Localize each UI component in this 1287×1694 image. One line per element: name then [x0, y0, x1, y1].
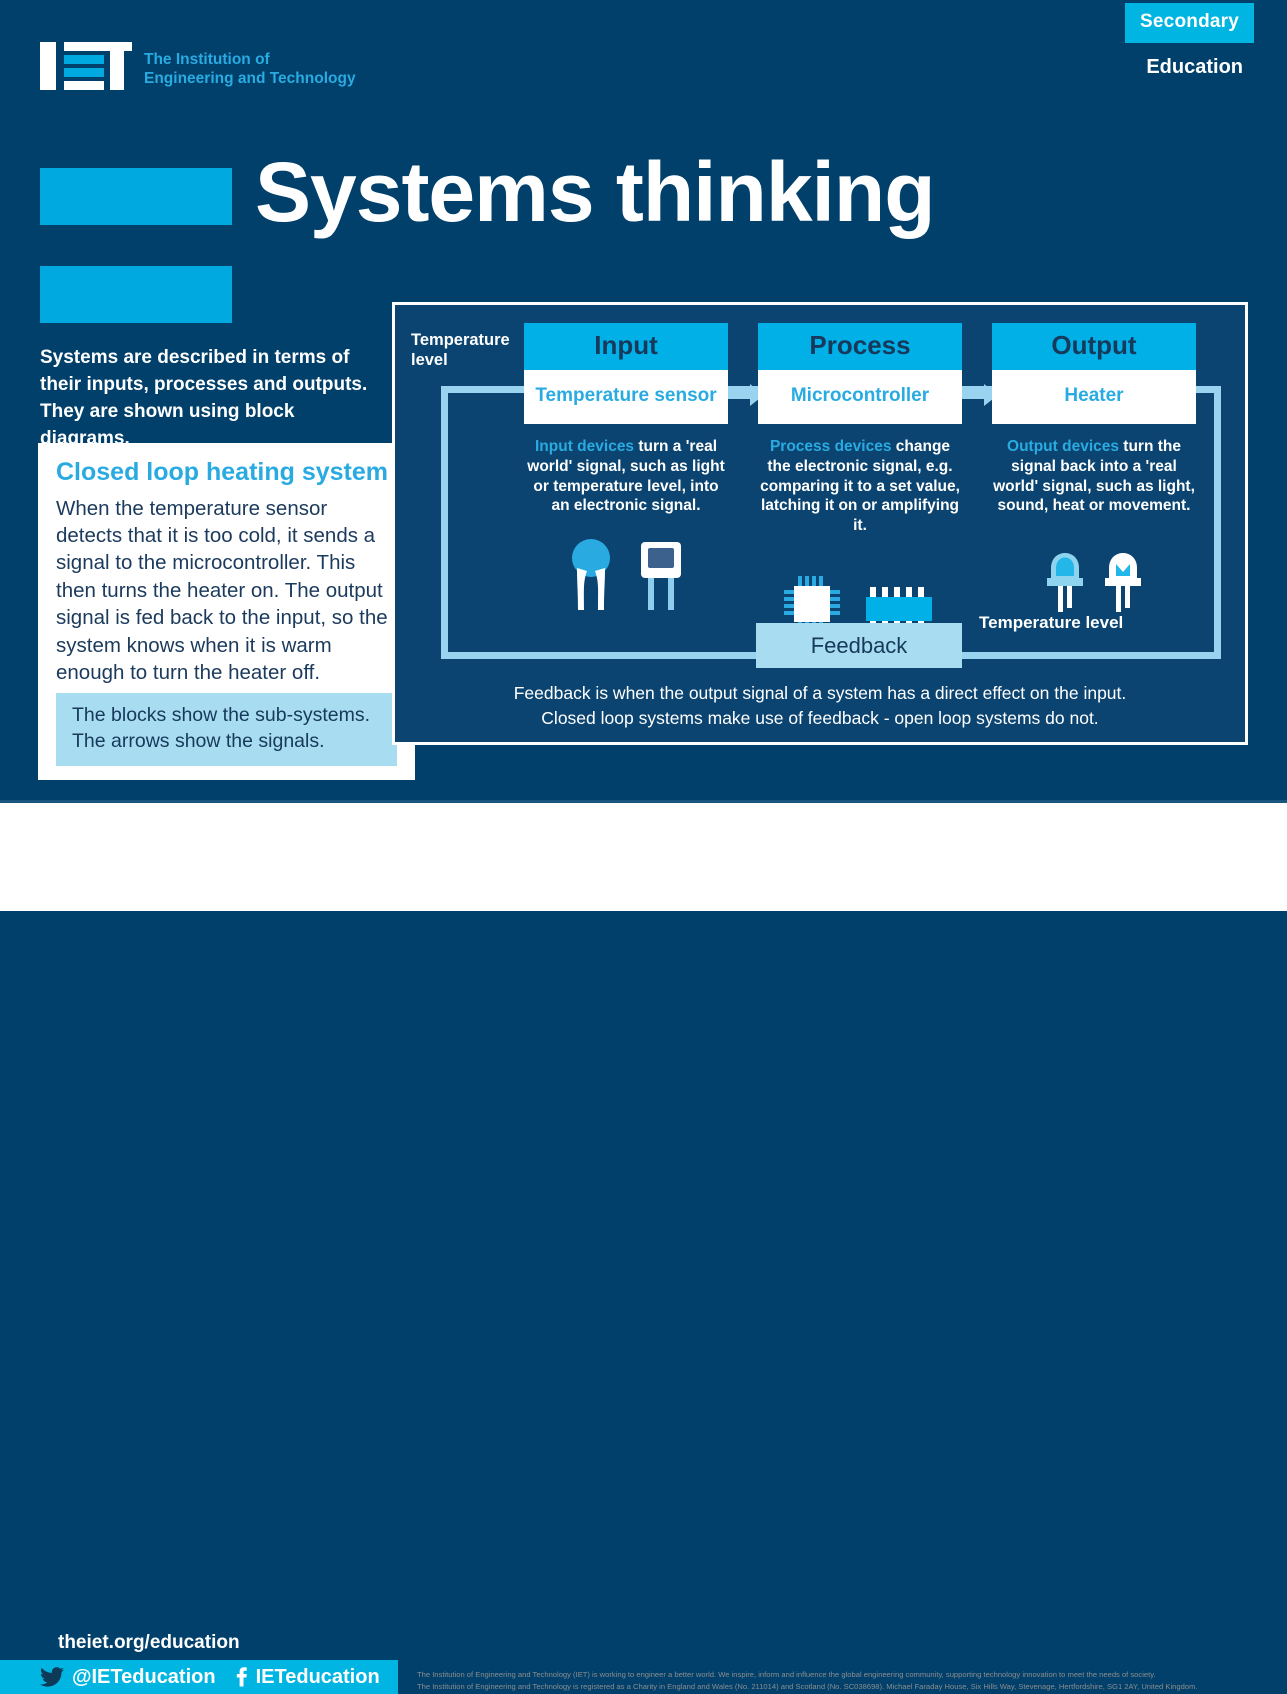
footer: theiet.org/education @IETeducation IETed… — [0, 803, 1287, 911]
block-input-head: Input — [524, 323, 728, 370]
decorative-rect-top — [40, 168, 232, 225]
decorative-rect-bottom — [40, 266, 232, 323]
intro-text: Systems are described in terms of their … — [40, 345, 385, 453]
block-input: Input Temperature sensor Input devices t… — [524, 323, 728, 614]
feedback-box: Feedback — [756, 623, 962, 668]
iet-logo-mark — [40, 42, 132, 90]
input-signal-label: Temperature level — [411, 331, 521, 371]
legal-line1: The Institution of Engineering and Techn… — [417, 1669, 1257, 1681]
education-label: Education — [1146, 56, 1243, 79]
footer-social-bar: @IETeducation IETeducation — [0, 1660, 398, 1694]
iet-logo: The Institution of Engineering and Techn… — [40, 42, 356, 90]
block-output-body: Heater — [992, 370, 1196, 424]
block-output-icons — [992, 516, 1196, 614]
twitter-handle[interactable]: @IETeducation — [72, 1666, 216, 1689]
block-output-desc-lead: Output devices — [1007, 438, 1119, 455]
block-process: Process Microcontroller Process devices … — [758, 323, 962, 634]
block-output: Output Heater Output devices turn the si… — [992, 323, 1196, 614]
block-output-head: Output — [992, 323, 1196, 370]
block-process-desc-lead: Process devices — [770, 438, 892, 455]
feedback-caption-line1: Feedback is when the output signal of a … — [395, 681, 1245, 706]
block-process-head: Process — [758, 323, 962, 370]
info-card-title: Closed loop heating system — [56, 459, 397, 487]
legal-text: The Institution of Engineering and Techn… — [417, 1669, 1257, 1693]
footer-url[interactable]: theiet.org/education — [40, 1626, 258, 1660]
facebook-handle[interactable]: IETeducation — [256, 1666, 380, 1689]
iet-logo-line1: The Institution of — [144, 50, 356, 69]
feedback-caption-line2: Closed loop systems make use of feedback… — [395, 706, 1245, 731]
block-output-desc: Output devices turn the signal back into… — [992, 424, 1196, 516]
block-process-icons — [758, 536, 962, 634]
thermistor-icon — [565, 538, 617, 614]
block-input-icons — [524, 516, 728, 614]
closed-loop-info-card: Closed loop heating system When the temp… — [38, 443, 415, 780]
block-process-body: Microcontroller — [758, 370, 962, 424]
led-blue-icon — [1045, 534, 1085, 614]
page-title: Systems thinking — [255, 150, 935, 234]
info-card-body: When the temperature sensor detects that… — [56, 495, 397, 687]
block-input-desc: Input devices turn a 'real world' signal… — [524, 424, 728, 516]
block-input-desc-lead: Input devices — [535, 438, 634, 455]
feedback-signal-label: Temperature level — [979, 613, 1123, 633]
twitter-icon[interactable] — [40, 1667, 64, 1687]
ldr-icon — [635, 538, 687, 614]
poster-root: The Institution of Engineering and Techn… — [0, 0, 1287, 911]
block-process-desc: Process devices change the electronic si… — [758, 424, 962, 536]
led-white-icon — [1103, 534, 1143, 614]
secondary-badge: Secondary — [1125, 3, 1254, 43]
feedback-caption: Feedback is when the output signal of a … — [395, 681, 1245, 732]
legal-line2: The Institution of Engineering and Techn… — [417, 1681, 1257, 1693]
block-diagram-panel: Temperature level Input Temperature sens… — [392, 302, 1248, 745]
iet-logo-line2: Engineering and Technology — [144, 69, 356, 88]
facebook-icon[interactable] — [234, 1667, 248, 1687]
block-input-body: Temperature sensor — [524, 370, 728, 424]
info-card-note: The blocks show the sub-systems. The arr… — [56, 693, 397, 766]
iet-logo-wordmark: The Institution of Engineering and Techn… — [144, 42, 356, 89]
